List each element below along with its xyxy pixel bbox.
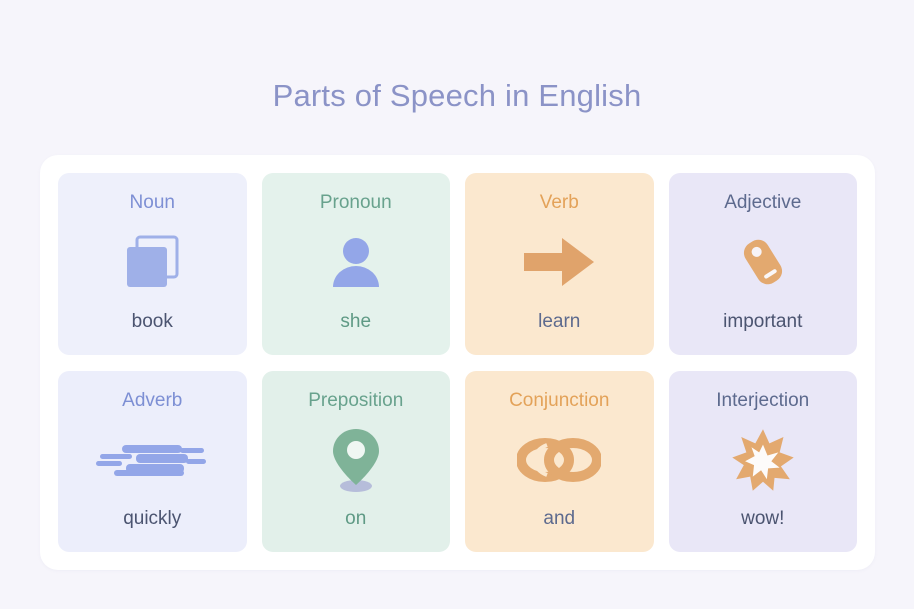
card-example: learn	[538, 311, 580, 355]
card-label: Interjection	[716, 391, 809, 412]
card-label: Adjective	[724, 193, 801, 214]
person-icon	[262, 214, 451, 311]
map-pin-icon	[262, 411, 451, 508]
card-verb[interactable]: Verb learn	[465, 173, 654, 355]
card-label: Pronoun	[320, 193, 392, 214]
card-label: Conjunction	[509, 391, 609, 412]
cards-panel: Noun book Pronoun she	[40, 155, 875, 570]
card-example: she	[340, 311, 371, 355]
starburst-icon	[669, 411, 858, 508]
card-label: Noun	[130, 193, 175, 214]
parts-of-speech-infographic: Parts of Speech in English Noun book Pro…	[0, 0, 914, 609]
card-adjective[interactable]: Adjective important	[669, 173, 858, 355]
card-example: on	[345, 508, 366, 552]
card-interjection[interactable]: Interjection wow!	[669, 371, 858, 553]
card-example: book	[132, 311, 173, 355]
arrow-right-icon	[465, 214, 654, 311]
card-noun[interactable]: Noun book	[58, 173, 247, 355]
card-example: important	[723, 311, 802, 355]
card-label: Adverb	[122, 391, 182, 412]
price-tag-icon	[669, 214, 858, 311]
card-example: and	[543, 508, 575, 552]
speed-lines-icon	[58, 411, 247, 508]
card-preposition[interactable]: Preposition on	[262, 371, 451, 553]
cards-grid: Noun book Pronoun she	[58, 173, 857, 552]
card-example: wow!	[741, 508, 784, 552]
page-title: Parts of Speech in English	[0, 78, 914, 114]
card-conjunction[interactable]: Conjunction and	[465, 371, 654, 553]
card-pronoun[interactable]: Pronoun she	[262, 173, 451, 355]
chain-links-icon	[465, 411, 654, 508]
card-label: Preposition	[308, 391, 403, 412]
card-example: quickly	[123, 508, 181, 552]
card-adverb[interactable]: Adverb quickly	[58, 371, 247, 553]
book-icon	[58, 214, 247, 311]
card-label: Verb	[540, 193, 579, 214]
